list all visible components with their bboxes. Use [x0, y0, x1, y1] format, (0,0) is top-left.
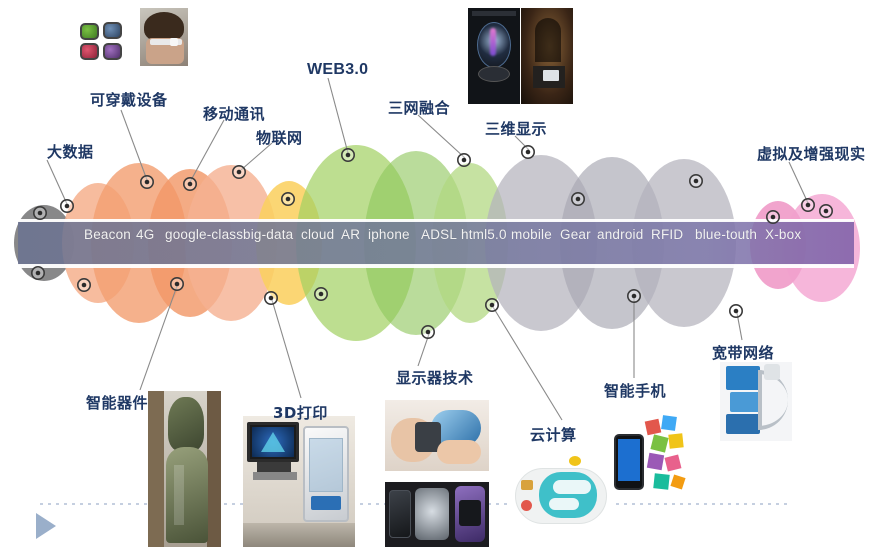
- node-marker-m-gray-bot[interactable]: [32, 267, 44, 279]
- callout-label-smart-devices: 智能器件: [86, 396, 148, 411]
- callout-label-big-data: 大数据: [47, 145, 94, 160]
- leader-line: [272, 300, 301, 398]
- callout-label-iot: 物联网: [256, 131, 303, 146]
- smartwatches-photo: [78, 20, 126, 62]
- node-marker-m-orange-1[interactable]: [78, 279, 90, 291]
- callout-label-web30: WEB3.0: [307, 62, 368, 78]
- band-keyword: RFID: [651, 228, 683, 242]
- wrist-band-photo: [385, 482, 489, 547]
- band-keyword: android: [597, 228, 643, 242]
- leader-line: [328, 78, 348, 153]
- leader-line: [418, 115, 465, 158]
- callout-label-mobile-comm: 移动通讯: [203, 107, 265, 122]
- infographic-canvas: Beacon4Ggoogle-classbig-datacloudARiphon…: [0, 0, 872, 547]
- marker-dots: [32, 146, 832, 338]
- phone-apps-photo: [612, 412, 686, 502]
- node-marker-m-3ddisplay[interactable]: [522, 146, 534, 158]
- leader-line: [47, 160, 67, 204]
- node-marker-m-green-bot[interactable]: [315, 288, 327, 300]
- callout-label-3d-display: 三维显示: [485, 122, 547, 137]
- node-marker-m-wearable[interactable]: [141, 176, 153, 188]
- node-marker-m-web30[interactable]: [342, 149, 354, 161]
- cloud-diagram: [509, 450, 613, 535]
- node-marker-m-3dprint[interactable]: [265, 292, 277, 304]
- node-marker-m-gray3[interactable]: [690, 175, 702, 187]
- band-keyword: blue-touth: [695, 228, 757, 242]
- band-keyword: ADSL: [421, 228, 457, 242]
- leader-line: [493, 307, 562, 420]
- band-keyword: html5.0: [461, 228, 507, 242]
- band-keyword: Gear: [560, 228, 591, 242]
- printer-photo: [243, 416, 355, 547]
- leader-line: [418, 334, 429, 366]
- band-keyword: mobile: [511, 228, 552, 242]
- node-marker-m-pink-2[interactable]: [820, 205, 832, 217]
- band-keyword: Beacon: [84, 228, 131, 242]
- node-marker-m-pink-1[interactable]: [767, 211, 779, 223]
- callout-label-3d-printing: 3D打印: [273, 406, 328, 421]
- leader-lines: [47, 78, 808, 420]
- leader-line: [241, 143, 272, 170]
- node-marker-m-gray2[interactable]: [572, 193, 584, 205]
- callout-label-smartphone: 智能手机: [604, 384, 666, 399]
- callout-labels: 大数据可穿戴设备移动通讯物联网WEB3.0三网融合三维显示虚拟及增强现实智能器件…: [0, 0, 872, 547]
- broadband-photo: [720, 362, 792, 441]
- dark-room-photo: [521, 8, 573, 104]
- band-keyword: X-box: [765, 228, 801, 242]
- google-glass-photo: [140, 8, 188, 66]
- band-keyword: google-class: [165, 228, 243, 242]
- band-keyword-list: Beacon4Ggoogle-classbig-datacloudARiphon…: [0, 0, 872, 547]
- band-keyword: cloud: [301, 228, 334, 242]
- node-marker-m-tripleplay[interactable]: [458, 154, 470, 166]
- band-keyword: big-data: [243, 228, 293, 242]
- node-marker-m-cloud[interactable]: [486, 299, 498, 311]
- photo-thumbnails: [0, 0, 872, 547]
- leader-line: [737, 313, 742, 340]
- gradient-band: [18, 219, 854, 268]
- callout-label-cloud-computing: 云计算: [530, 428, 577, 443]
- callout-label-display-tech: 显示器技术: [396, 371, 474, 386]
- node-marker-m-yellow[interactable]: [282, 193, 294, 205]
- statue-scan-photo: [148, 391, 221, 547]
- callout-label-wearable: 可穿戴设备: [90, 93, 168, 108]
- node-marker-m-bigdata[interactable]: [61, 200, 73, 212]
- node-marker-m-broadband[interactable]: [730, 305, 742, 317]
- callout-label-triple-play: 三网融合: [388, 101, 450, 116]
- band-keyword: 4G: [136, 228, 154, 242]
- leader-line: [140, 286, 177, 390]
- node-marker-m-smartdev[interactable]: [171, 278, 183, 290]
- node-marker-m-displaytech[interactable]: [422, 326, 434, 338]
- node-marker-m-smartphone[interactable]: [628, 290, 640, 302]
- flex-display-photo: [385, 400, 489, 471]
- node-marker-m-iot[interactable]: [233, 166, 245, 178]
- leader-line: [515, 136, 529, 150]
- leader-line: [121, 110, 147, 180]
- callout-label-vr-ar: 虚拟及增强现实: [757, 147, 866, 162]
- band-keyword: iphone: [368, 228, 410, 242]
- holo-display-photo: [468, 8, 520, 104]
- node-marker-m-gray-top[interactable]: [34, 207, 46, 219]
- leader-line: [190, 120, 224, 182]
- band-keyword: AR: [341, 228, 360, 242]
- leader-line: [789, 162, 808, 203]
- node-marker-m-vrar[interactable]: [802, 199, 814, 211]
- ellipse-cluster: [0, 0, 872, 547]
- play-triangle: [36, 513, 56, 539]
- node-marker-m-mobilecomm[interactable]: [184, 178, 196, 190]
- callout-label-broadband: 宽带网络: [712, 346, 774, 361]
